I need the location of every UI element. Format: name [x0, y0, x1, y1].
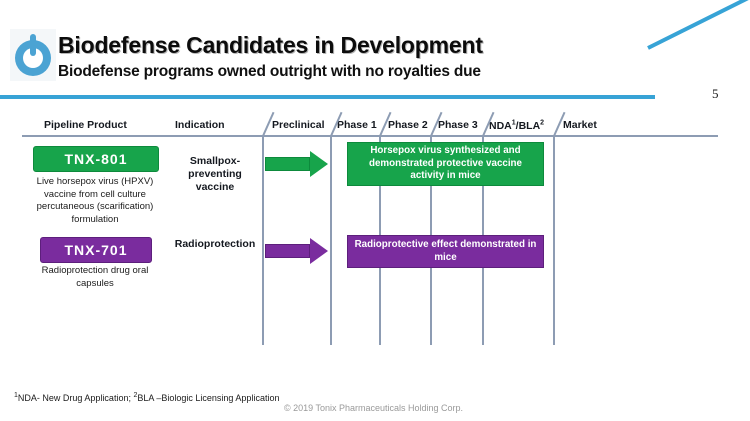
- header-phase-1: Phase 1: [337, 119, 377, 131]
- product-pill-tnx-701[interactable]: TNX-701: [40, 237, 152, 263]
- footnote-text-1: NDA- New Drug Application;: [18, 393, 134, 403]
- copyright-notice: © 2019 Tonix Pharmaceuticals Holding Cor…: [284, 403, 463, 413]
- footnote-text-2: BLA –Biologic Licensing Application: [137, 393, 279, 403]
- progress-arrow-tnx-701: [265, 238, 328, 264]
- product-description-tnx-701: Radioprotection drug oral capsules: [24, 265, 166, 290]
- page-number: 5: [712, 86, 719, 102]
- header-preclinical: Preclinical: [272, 119, 325, 131]
- header-pipeline-product: Pipeline Product: [44, 119, 127, 131]
- arrow-shaft: [265, 244, 310, 258]
- header-underline: [22, 135, 718, 137]
- header-nda-bla-text: NDA1/BLA2: [489, 120, 544, 132]
- header-market: Market: [563, 119, 597, 131]
- tonix-power-logo-icon: [10, 29, 56, 81]
- indication-tnx-801: Smallpox-preventing vaccine: [168, 155, 262, 194]
- accent-rule-diagonal: [647, 0, 749, 50]
- arrow-shaft: [265, 157, 310, 171]
- status-banner-tnx-701: Radioprotective effect demonstrated in m…: [347, 235, 544, 268]
- header-indication: Indication: [175, 119, 225, 131]
- status-banner-tnx-801: Horsepox virus synthesized and demonstra…: [347, 142, 544, 186]
- page-subtitle: Biodefense programs owned outright with …: [58, 63, 481, 81]
- header-nda-bla: NDA1/BLA2: [489, 119, 544, 132]
- accent-rule-joint: [645, 95, 655, 99]
- indication-tnx-701: Radioprotection: [168, 238, 262, 251]
- footnote: 1NDA- New Drug Application; 2BLA –Biolog…: [14, 392, 279, 403]
- arrow-head: [310, 151, 328, 177]
- grid-line-2: [330, 136, 332, 345]
- arrow-head: [310, 238, 328, 264]
- product-description-tnx-801: Live horsepox virus (HPXV) vaccine from …: [24, 176, 166, 226]
- accent-rule-horizontal: [0, 95, 652, 99]
- grid-line-1: [262, 136, 264, 345]
- header-phase-2: Phase 2: [388, 119, 428, 131]
- header-phase-3: Phase 3: [438, 119, 478, 131]
- progress-arrow-tnx-801: [265, 151, 328, 177]
- page-title: Biodefense Candidates in Development: [58, 32, 483, 59]
- slide-canvas: Biodefense Candidates in Development Bio…: [0, 0, 750, 421]
- product-pill-tnx-801[interactable]: TNX-801: [33, 146, 159, 172]
- logo-stem-shape: [30, 34, 36, 56]
- grid-line-6: [553, 136, 555, 345]
